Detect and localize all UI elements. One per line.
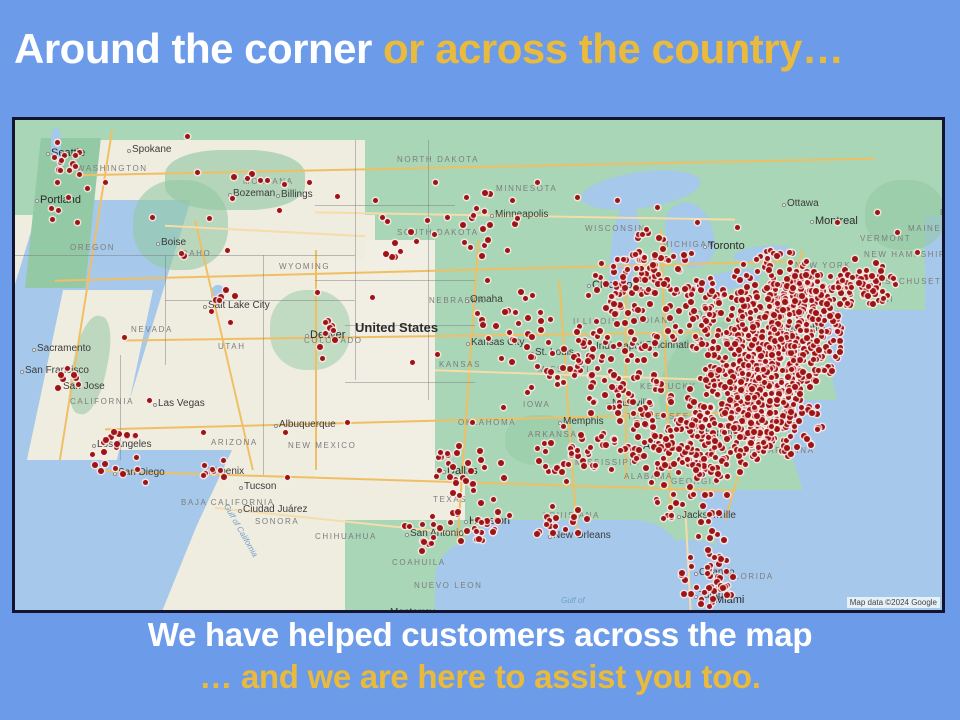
customer-marker [380,215,385,220]
customer-marker [650,262,656,268]
customer-marker [873,278,879,284]
customer-marker [718,556,724,562]
customer-marker [865,293,871,299]
customer-marker [788,409,794,415]
customer-marker [223,287,229,293]
customer-marker [474,529,479,534]
customer-marker [816,347,822,353]
customer-marker [535,180,540,185]
customer-marker [816,368,821,373]
customer-marker [615,410,621,416]
customer-marker [745,430,751,436]
customer-marker [773,373,779,379]
customer-marker [277,208,282,213]
customer-marker [833,354,838,359]
customer-marker [564,479,569,484]
customer-marker [757,430,763,436]
customer-marker [586,293,591,298]
customer-marker [525,315,531,321]
customer-marker [814,338,820,344]
customer-marker [652,252,658,258]
customer-marker [585,358,591,364]
customer-marker [625,358,630,363]
customer-marker [666,258,671,263]
customer-marker [708,372,714,378]
customer-marker [724,492,730,498]
customer-marker [636,447,642,453]
customer-marker [575,507,581,513]
customer-marker [370,295,375,300]
customer-marker [482,465,487,470]
customer-marker [736,407,741,412]
map-city-marker [305,334,309,338]
customer-marker [603,305,609,311]
customer-marker [745,395,751,401]
customer-marker [734,268,740,274]
footer-line-1: We have helped customers across the map [0,614,960,656]
border-horiz-2 [165,300,355,301]
customer-marker [668,399,674,405]
customer-marker [696,534,701,539]
customer-marker [475,311,480,316]
customer-marker [691,492,696,497]
map-city-marker [127,149,131,153]
customer-marker [584,516,590,522]
customer-marker [143,480,148,485]
customer-marker [676,470,681,475]
customer-marker [480,322,486,328]
map-canvas[interactable]: Gulf of California Gulf of WASHINGTONORE… [15,120,942,610]
customer-marker [685,457,690,462]
map-city-marker [810,220,814,224]
customer-marker [642,421,648,427]
customer-marker [722,430,727,435]
customer-marker [448,520,453,525]
customer-marker [815,427,820,432]
customer-marker [195,170,200,175]
customer-marker [787,312,792,317]
customer-marker [681,252,687,258]
customer-marker [611,405,616,410]
forest-maine [865,180,942,250]
customer-marker [454,450,460,456]
customer-marker [490,529,496,535]
customer-marker [727,397,733,403]
customer-marker [707,552,712,557]
map-city-marker [92,444,96,448]
customer-marker [788,260,793,265]
customer-marker [133,433,138,438]
customer-marker [553,524,558,529]
customer-marker [633,252,638,257]
customer-marker [847,290,852,295]
customer-marker [111,429,117,435]
customer-marker [693,467,699,473]
customer-marker [735,225,740,230]
customer-marker [705,547,711,553]
customer-marker [719,401,725,407]
customer-marker [622,285,628,291]
headline: Around the corner or across the country… [14,27,954,71]
customer-marker [62,153,67,158]
map-city-marker [694,595,698,599]
customer-marker [864,268,869,273]
customer-marker [631,427,636,432]
customer-marker [434,474,439,479]
customer-marker [837,301,843,307]
customer-marker [895,230,900,235]
customer-marker [775,301,780,306]
customer-marker [56,208,61,213]
customer-marker [845,301,850,306]
customer-marker [249,171,255,177]
customer-marker [827,313,833,319]
customer-marker [769,424,774,429]
customer-marker [612,437,617,442]
customer-marker [763,359,768,364]
customer-marker [52,155,57,160]
customer-marker [598,275,603,280]
customer-marker [804,259,809,264]
customer-marker [463,478,469,484]
customer-marker [685,445,690,450]
customer-marker [784,438,789,443]
customer-marker [588,384,594,390]
customer-marker [822,368,827,373]
customer-marker [788,350,794,356]
customer-marker [658,255,664,261]
customer-marker [421,539,427,545]
customer-marker [752,282,758,288]
customer-marker [707,312,712,317]
customer-marker [756,400,761,405]
map-city-marker [239,486,243,490]
customer-marker [722,292,727,297]
customer-marker [523,296,528,301]
customer-marker [546,340,551,345]
customer-marker [615,198,620,203]
customer-marker [671,492,676,497]
map-city-marker [35,199,39,203]
customer-marker [515,216,520,221]
customer-marker [705,571,710,576]
customer-marker [819,329,824,334]
customer-marker [716,367,722,373]
customer-marker [631,411,636,416]
customer-marker [738,379,744,385]
customer-marker [744,273,749,278]
customer-marker [482,190,488,196]
customer-marker [724,569,729,574]
map-attribution: Map data ©2024 Google [847,597,940,608]
customer-marker [507,330,512,335]
customer-marker [633,285,639,291]
customer-marker [885,293,890,298]
customer-marker [617,292,622,297]
customer-marker [787,319,792,324]
customer-marker [727,379,733,385]
customer-marker [450,464,456,470]
customer-marker [776,351,781,356]
customer-marker [652,290,658,296]
customer-marker [728,415,734,421]
customer-marker [761,440,766,445]
customer-marker [709,528,715,534]
customer-marker [438,450,443,455]
map-container[interactable]: Gulf of California Gulf of WASHINGTONORE… [12,117,945,613]
customer-marker [701,463,707,469]
customer-marker [806,373,812,379]
map-city-marker [442,470,446,474]
customer-marker [559,469,565,475]
border-vert-1 [165,255,166,365]
customer-marker [749,386,755,392]
customer-marker [791,402,796,407]
customer-marker [59,158,64,163]
customer-marker [710,281,715,286]
customer-marker [66,195,71,200]
customer-marker [702,590,707,595]
customer-marker [656,447,662,453]
customer-marker [736,347,742,353]
customer-marker [702,492,708,498]
customer-marker [429,541,434,546]
border-vert-6 [263,355,264,475]
customer-marker [661,516,666,521]
customer-marker [649,480,654,485]
customer-marker [445,215,450,220]
customer-marker [373,198,378,203]
customer-marker [699,424,705,430]
customer-marker [732,327,737,332]
customer-marker [818,292,824,298]
customer-marker [622,348,628,354]
customer-marker [703,318,709,324]
customer-marker [603,281,609,287]
customer-marker [593,273,598,278]
footer-line-2: … and we are here to assist you too. [0,656,960,698]
customer-marker [581,463,587,469]
customer-marker [769,431,774,436]
customer-marker [419,548,425,554]
customer-marker [815,279,820,284]
customer-marker [735,395,740,400]
customer-marker [628,329,634,335]
customer-marker [811,343,816,348]
customer-marker [881,296,886,301]
customer-marker [752,337,757,342]
customer-marker [282,182,287,187]
customer-marker [705,565,710,570]
customer-marker [741,303,747,309]
customer-marker [435,352,440,357]
customer-marker [594,319,599,324]
customer-marker [698,519,704,525]
customer-marker [458,538,464,544]
customer-marker [671,461,677,467]
customer-marker [535,364,540,369]
customer-marker [661,413,666,418]
customer-marker [76,382,81,387]
customer-marker [715,392,720,397]
border-vert-4 [428,140,429,400]
customer-marker [799,293,805,299]
customer-marker [546,469,551,474]
customer-marker [813,310,819,316]
customer-marker [716,561,722,567]
customer-marker [621,257,626,262]
border-horiz-4 [315,280,475,281]
customer-marker [455,509,461,515]
customer-marker [697,472,702,477]
customer-marker [555,382,560,387]
customer-marker [201,430,206,435]
map-city-marker [46,152,50,156]
customer-marker [737,434,743,440]
customer-marker [691,399,697,405]
customer-marker [585,449,590,454]
customer-marker [218,468,223,473]
customer-marker [602,378,607,383]
customer-marker [471,488,476,493]
customer-marker [593,463,598,468]
customer-marker [661,281,667,287]
customer-marker [650,418,655,423]
customer-marker [543,464,548,469]
border-horiz-3 [315,205,455,206]
customer-marker [797,357,803,363]
customer-marker [389,254,395,260]
customer-marker [617,342,622,347]
customer-marker [708,492,713,497]
customer-marker [410,360,415,365]
customer-marker [724,558,729,563]
map-city-marker [113,472,117,476]
customer-marker [65,366,70,371]
customer-marker [682,449,688,455]
customer-marker [707,512,712,517]
customer-marker [762,380,767,385]
customer-marker [641,357,647,363]
customer-marker [762,314,768,320]
customer-marker [569,451,574,456]
customer-marker [75,220,80,225]
customer-marker [711,318,716,323]
customer-marker [600,354,605,359]
customer-marker [831,338,836,343]
map-city-marker [274,424,278,428]
customer-marker [748,316,753,321]
customer-marker [753,308,758,313]
customer-marker [457,493,462,498]
customer-marker [893,282,898,287]
customer-marker [800,369,806,375]
customer-marker [453,480,459,486]
customer-marker [778,336,784,342]
customer-marker [771,312,777,318]
customer-marker [634,422,640,428]
customer-marker [599,261,604,266]
customer-marker [707,535,713,541]
map-city-marker [782,203,786,207]
customer-marker [646,287,651,292]
customer-marker [797,391,803,397]
customer-marker [265,178,270,183]
customer-marker [746,372,751,377]
customer-marker [538,327,544,333]
map-city-marker [405,533,409,537]
customer-marker [788,434,793,439]
customer-marker [676,446,682,452]
customer-marker [713,455,718,460]
customer-marker [752,452,757,457]
map-city-marker [694,572,698,576]
map-city-marker [490,214,494,218]
customer-marker [632,337,637,342]
customer-marker [495,518,501,524]
customer-marker [383,251,389,257]
customer-marker [695,220,700,225]
customer-marker [408,229,414,235]
customer-marker [320,356,325,361]
footer-text-block: We have helped customers across the map … [0,614,960,698]
customer-marker [878,268,884,274]
customer-marker [647,400,652,405]
customer-marker [134,455,139,460]
customer-marker [654,379,659,384]
customer-marker [437,525,443,531]
customer-marker [641,453,647,459]
customer-marker [815,273,820,278]
customer-marker [797,281,802,286]
customer-marker [575,448,580,453]
customer-marker [777,269,783,275]
customer-marker [671,254,676,259]
customer-marker [477,448,483,454]
customer-marker [498,460,504,466]
customer-marker [835,329,840,334]
customer-marker [782,299,788,305]
border-horiz-5 [345,325,475,326]
customer-marker [617,302,623,308]
customer-marker [792,344,797,349]
customer-marker [67,168,72,173]
customer-marker [221,474,227,480]
customer-marker [437,468,442,473]
customer-marker [283,430,288,435]
border-vert-2 [263,255,264,355]
forest-colorado [270,290,350,370]
customer-marker [578,432,584,438]
customer-marker [714,465,720,471]
customer-marker [765,296,771,302]
customer-marker [688,299,694,305]
customer-marker [769,391,774,396]
customer-marker [831,285,836,290]
customer-marker [756,346,762,352]
map-city-marker [703,245,707,249]
map-city-marker [677,515,681,519]
headline-part-gold: or across the country… [383,25,843,72]
customer-marker [736,453,742,459]
customer-marker [634,266,639,271]
customer-marker [661,482,667,488]
customer-marker [462,240,467,245]
customer-marker [751,429,757,435]
customer-marker [543,449,548,454]
customer-marker [761,367,766,372]
customer-marker [479,530,484,535]
